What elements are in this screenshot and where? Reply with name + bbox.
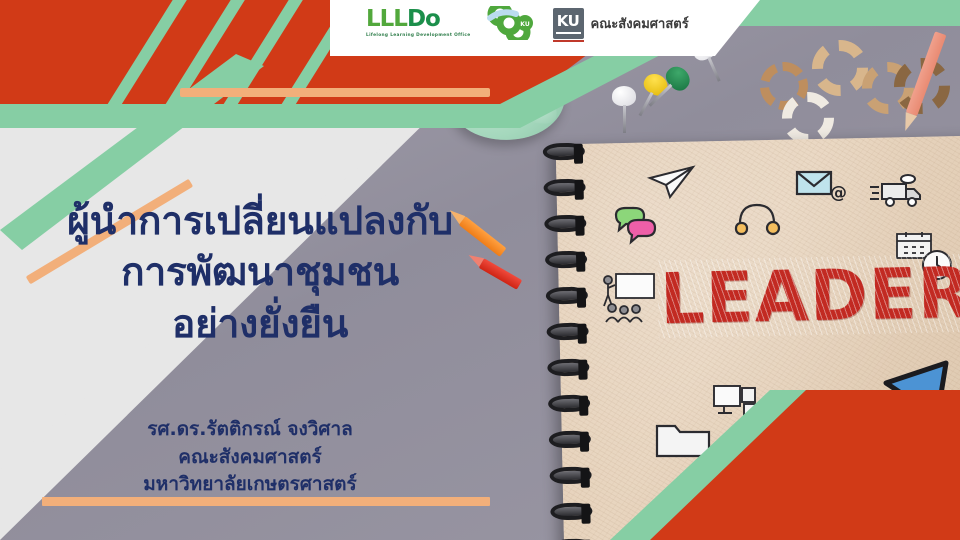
ku-faculty-text: คณะสังคมศาสตร์ xyxy=(591,13,689,34)
byline: รศ.ดร.รัตติกรณ์ จงวิศาล คณะสังคมศาสตร์ ม… xyxy=(0,416,500,499)
title-slide: @ xyxy=(0,0,960,540)
orange-accent-line xyxy=(180,88,490,97)
infinity-inner-label: KU xyxy=(520,21,530,28)
byline-faculty: คณะสังคมศาสตร์ xyxy=(0,444,500,472)
presenter-with-audience-icon xyxy=(598,272,658,324)
llldo-tagline: Lifelong Learning Development Office xyxy=(366,33,471,38)
envelope-icon xyxy=(795,168,833,196)
title-line-1: ผู้นำการเปลี่ยนแปลงกับ xyxy=(0,196,520,247)
llldo-wordmark: LLLDo xyxy=(366,8,440,31)
logo-row: LLLDo Lifelong Learning Development Offi… xyxy=(366,6,689,40)
byline-underline xyxy=(42,497,490,506)
ku-red-underline xyxy=(553,40,584,43)
ku-logo: KU คณะสังคมศาสตร์ xyxy=(553,8,689,39)
page-title: ผู้นำการเปลี่ยนแปลงกับ การพัฒนาชุมชน อย่… xyxy=(0,196,520,350)
speech-bubbles-icon xyxy=(612,205,658,243)
ku-mark-wrap: KU xyxy=(553,8,584,39)
headphones-icon xyxy=(735,200,779,236)
paper-plane-icon xyxy=(648,165,696,199)
llldo-lll: LLL xyxy=(366,6,407,32)
ku-infinity-logo: KU xyxy=(484,6,540,40)
llldo-do: Do xyxy=(407,6,440,32)
byline-speaker: รศ.ดร.รัตติกรณ์ จงวิศาล xyxy=(0,416,500,444)
title-line-2: การพัฒนาชุมชน xyxy=(0,247,520,298)
ku-mark-label: KU xyxy=(557,14,580,29)
ku-mark: KU xyxy=(553,8,584,39)
at-sign-icon: @ xyxy=(830,183,847,203)
delivery-truck-icon xyxy=(868,172,924,210)
byline-university: มหาวิทยาลัยเกษตรศาสตร์ xyxy=(0,471,500,499)
spiral-binding xyxy=(541,135,596,540)
leader-word: LEADER xyxy=(659,252,960,341)
title-line-3: อย่างยั่งยืน xyxy=(0,299,520,350)
wooden-gear-icon xyxy=(782,92,834,144)
wooden-gear-icon xyxy=(812,40,868,96)
llldo-logo: LLLDo Lifelong Learning Development Offi… xyxy=(366,8,471,38)
